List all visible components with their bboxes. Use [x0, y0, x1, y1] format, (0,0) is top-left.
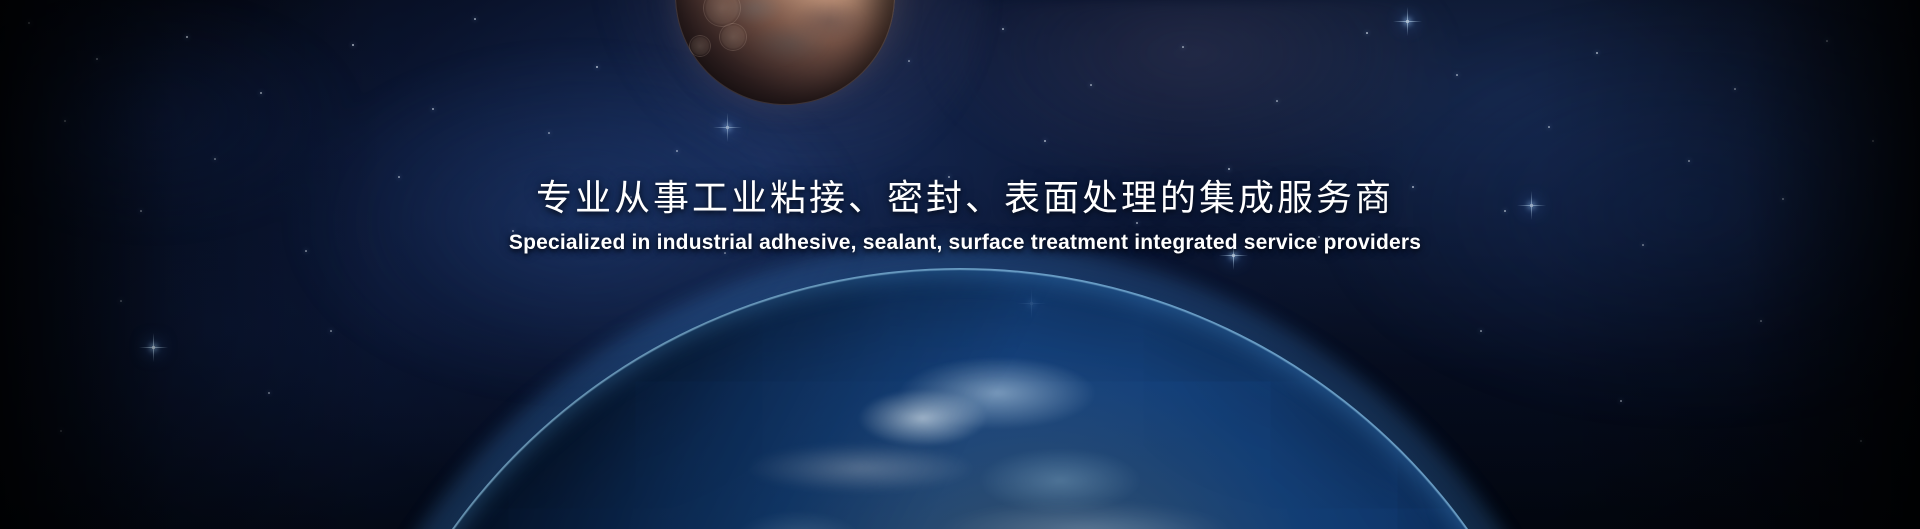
hero-headline-zh: 专业从事工业粘接、密封、表面处理的集成服务商: [10, 176, 1920, 221]
hero-text-block: 专业从事工业粘接、密封、表面处理的集成服务商 Specialized in in…: [0, 176, 1920, 255]
edge-vignette: [0, 0, 1920, 529]
hero-subtitle-en: Specialized in industrial adhesive, seal…: [10, 231, 1920, 255]
hero-banner: 专业从事工业粘接、密封、表面处理的集成服务商 Specialized in in…: [0, 0, 1920, 529]
